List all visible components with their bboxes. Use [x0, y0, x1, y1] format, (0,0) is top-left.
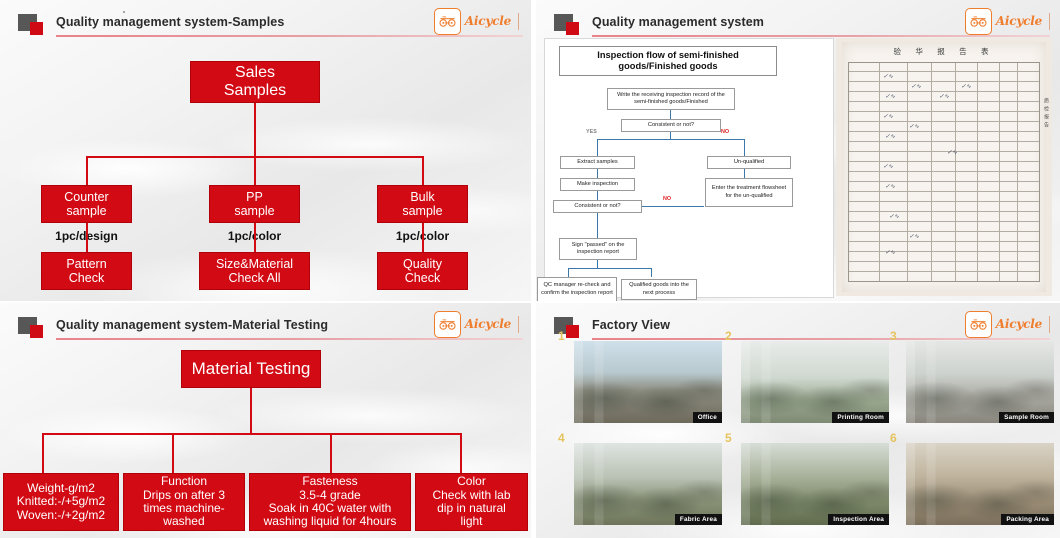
report-row-line — [849, 241, 1039, 242]
panel-samples: Quality management system-Samples Aicycl… — [0, 0, 531, 301]
photo-scene — [741, 443, 889, 525]
photo-caption: Printing Room — [832, 412, 889, 423]
connector-drop-1 — [86, 156, 88, 185]
handwriting-mark: ✓∿ — [885, 93, 895, 100]
factory-photo[interactable]: Packing Area — [906, 443, 1054, 525]
brand-name: Aicycle — [996, 14, 1042, 28]
header-underline — [592, 338, 1050, 340]
flow-final-bus — [568, 268, 652, 269]
handwriting-mark: ✓∿ — [883, 73, 893, 80]
panel-header-material: Quality management system-Material Testi… — [0, 303, 531, 337]
page-title: Quality management system-Samples — [56, 15, 284, 29]
photo-number: 3 — [890, 329, 897, 343]
report-row-line — [849, 191, 1039, 192]
flow-line-no-2 — [642, 206, 704, 207]
report-col-line — [999, 63, 1000, 281]
handwriting-mark: ✓∿ — [939, 93, 949, 100]
flow-node-treatment-flowsheet: Enter the treatment flowsheet for the un… — [705, 178, 793, 207]
photo-scene — [574, 341, 722, 423]
photo-caption: Sample Room — [999, 412, 1054, 423]
logo-divider — [518, 13, 519, 30]
handwriting-mark: ✓∿ — [909, 233, 919, 240]
report-row-line — [849, 271, 1039, 272]
page-title: Quality management system — [592, 15, 764, 29]
flow-line — [670, 110, 671, 119]
photo-caption: Packing Area — [1001, 514, 1054, 525]
report-row-line — [849, 161, 1039, 162]
flow-label-no-2: NO — [663, 196, 671, 202]
photo-number: 5 — [725, 431, 732, 445]
logo-divider — [518, 316, 519, 333]
report-row-line — [849, 201, 1039, 202]
handwriting-mark: ✓∿ — [889, 213, 899, 220]
photo-scene — [574, 443, 722, 525]
header-dot — [123, 11, 125, 13]
panel-factory-view: Factory View Aicycle 1 — [536, 303, 1060, 538]
check-box-size-material: Size&MaterialCheck All — [199, 252, 310, 290]
panel-header-factory: Factory View Aicycle — [536, 303, 1060, 337]
flow-line — [670, 132, 671, 140]
report-row-line — [849, 101, 1039, 102]
panel-header-samples: Quality management system-Samples Aicycl… — [0, 0, 531, 34]
test-box-color: ColorCheck with labdip in naturallight — [415, 473, 528, 531]
header-underline — [56, 338, 523, 340]
factory-photo[interactable]: Inspection Area — [741, 443, 889, 525]
flow-node-sign-passed: Sign "passed" on the inspection report — [559, 238, 637, 260]
test-box-function: FunctionDrips on after 3times machine-wa… — [123, 473, 245, 531]
aicycle-bicycle-face-icon — [965, 8, 992, 35]
flow-node-make-inspection: Make inspection — [560, 178, 635, 191]
flow-line — [651, 268, 652, 277]
flow-label-yes: YES — [586, 129, 597, 135]
handwriting-mark: ✓∿ — [909, 123, 919, 130]
aicycle-bicycle-face-icon — [965, 311, 992, 338]
connector-col-3 — [422, 223, 424, 253]
slide-grid: Quality management system-Samples Aicycl… — [0, 0, 1060, 538]
handwriting-mark: ✓∿ — [883, 113, 893, 120]
test-box-fasteness: Fasteness3.5-4 gradeSoak in 40C water wi… — [249, 473, 411, 531]
panel-material-testing: Quality management system-Material Testi… — [0, 303, 531, 538]
report-row-line — [849, 231, 1039, 232]
photo-caption: Fabric Area — [675, 514, 722, 525]
report-row-line — [849, 251, 1039, 252]
check-box-quality: QualityCheck — [377, 252, 468, 290]
photo-scene — [741, 341, 889, 423]
report-col-line — [977, 63, 978, 281]
report-col-line — [931, 63, 932, 281]
report-title: 验 华 报 告 表 — [836, 46, 1052, 57]
flow-line-yes — [597, 139, 598, 156]
photo-scene — [906, 443, 1054, 525]
factory-photo[interactable]: Printing Room — [741, 341, 889, 423]
square-mark-icon — [18, 14, 42, 35]
handwriting-mark: ✓∿ — [885, 183, 895, 190]
report-row-line — [849, 141, 1039, 142]
connector-drop-2 — [172, 433, 174, 474]
flow-node-write-record: Write the receiving inspection record of… — [607, 88, 735, 110]
handwriting-mark: ✓∿ — [947, 149, 957, 156]
factory-photo[interactable]: Sample Room — [906, 341, 1054, 423]
connector-trunk — [254, 103, 256, 157]
flow-node-extract-samples: Extract samples — [560, 156, 635, 169]
flow-line — [744, 169, 745, 178]
factory-photo[interactable]: Office — [574, 341, 722, 423]
connector-trunk — [250, 388, 252, 434]
photo-caption: Inspection Area — [828, 514, 889, 525]
sample-box-pp: PPsample — [209, 185, 300, 223]
page-title: Quality management system-Material Testi… — [56, 318, 328, 332]
brand-logo: Aicycle — [965, 8, 1050, 34]
inspection-flowchart: Inspection flow of semi-finished goods/F… — [544, 38, 834, 298]
report-row-line — [849, 261, 1039, 262]
photo-scene — [906, 341, 1054, 423]
report-col-line — [879, 63, 880, 281]
flow-node-qualified-next: Qualified goods into the next process — [621, 279, 697, 300]
photo-number: 2 — [725, 329, 732, 343]
handwriting-mark: ✓∿ — [911, 83, 921, 90]
photo-caption: Office — [693, 412, 722, 423]
square-mark-icon — [554, 14, 578, 35]
flow-root-sales-samples: SalesSamples — [190, 61, 320, 103]
check-box-pattern: PatternCheck — [41, 252, 132, 290]
report-row-line — [849, 111, 1039, 112]
report-row-line — [849, 121, 1039, 122]
flow-line — [597, 169, 598, 178]
handwriting-mark: ✓∿ — [885, 133, 895, 140]
brand-logo: Aicycle — [434, 311, 519, 337]
panel-header-qms: Quality management system Aicycle — [536, 0, 1060, 34]
connector-drop-1 — [42, 433, 44, 474]
connector-drop-4 — [460, 433, 462, 474]
brand-logo: Aicycle — [965, 311, 1050, 337]
flow-line — [597, 260, 598, 269]
flow-line — [597, 213, 598, 238]
flow-line — [597, 191, 598, 200]
report-row-line — [849, 91, 1039, 92]
handwriting-mark: ✓∿ — [961, 83, 971, 90]
square-mark-icon — [18, 317, 42, 338]
flow-node-consistent-2: Consistent or not? — [553, 200, 642, 213]
logo-divider — [1049, 13, 1050, 30]
inspection-report-photo: 验 华 报 告 表 ✓∿✓∿✓∿✓∿✓∿✓∿✓∿✓∿✓∿✓∿✓∿✓∿✓∿✓∿ 质… — [836, 38, 1052, 296]
report-row-line — [849, 181, 1039, 182]
flow-node-consistent-1: Consistent or not? — [621, 119, 721, 132]
handwriting-mark: ✓∿ — [885, 249, 895, 256]
report-table-grid: ✓∿✓∿✓∿✓∿✓∿✓∿✓∿✓∿✓∿✓∿✓∿✓∿✓∿✓∿ — [848, 62, 1040, 282]
report-col-line — [907, 63, 908, 281]
aicycle-bicycle-face-icon — [434, 8, 461, 35]
connector-col-2 — [254, 223, 256, 253]
photo-number: 1 — [558, 329, 565, 343]
page-title: Factory View — [592, 318, 670, 332]
flowchart-heading: Inspection flow of semi-finished goods/F… — [559, 46, 777, 76]
connector-bus — [42, 433, 460, 435]
flow-root-material-testing: Material Testing — [181, 350, 321, 388]
flow-node-qc-recheck: QC manager re-check and confirm the insp… — [537, 277, 617, 301]
report-row-line — [849, 221, 1039, 222]
connector-drop-2 — [254, 156, 256, 185]
connector-drop-3 — [330, 433, 332, 474]
sample-box-counter: Countersample — [41, 185, 132, 223]
report-col-line — [955, 63, 956, 281]
flow-line-no — [744, 139, 745, 156]
report-row-line — [849, 81, 1039, 82]
report-row-line — [849, 171, 1039, 172]
connector-col-1 — [86, 223, 88, 253]
brand-name: Aicycle — [996, 317, 1042, 331]
report-col-line — [1017, 63, 1018, 281]
flow-label-no: NO — [721, 129, 729, 135]
test-box-weight: Weight-g/m2Knitted:-/+5g/m2Woven:-/+2g/m… — [3, 473, 119, 531]
aicycle-bicycle-face-icon — [434, 311, 461, 338]
report-row-line — [849, 211, 1039, 212]
report-row-line — [849, 151, 1039, 152]
panel-qms: Quality management system Aicycle — [536, 0, 1060, 301]
brand-name: Aicycle — [465, 14, 511, 28]
photo-number: 4 — [558, 431, 565, 445]
header-underline — [56, 35, 523, 37]
report-side-text: 质检报告 — [1043, 98, 1050, 130]
flow-node-unqualified: Un-qualified — [707, 156, 791, 169]
flow-line — [568, 268, 569, 277]
header-underline — [592, 35, 1050, 37]
photo-number: 6 — [890, 431, 897, 445]
factory-photo[interactable]: Fabric Area — [574, 443, 722, 525]
report-row-line — [849, 71, 1039, 72]
handwriting-mark: ✓∿ — [883, 163, 893, 170]
sample-box-bulk: Bulksample — [377, 185, 468, 223]
connector-drop-3 — [422, 156, 424, 185]
report-row-line — [849, 131, 1039, 132]
logo-divider — [1049, 316, 1050, 333]
brand-logo: Aicycle — [434, 8, 519, 34]
brand-name: Aicycle — [465, 317, 511, 331]
